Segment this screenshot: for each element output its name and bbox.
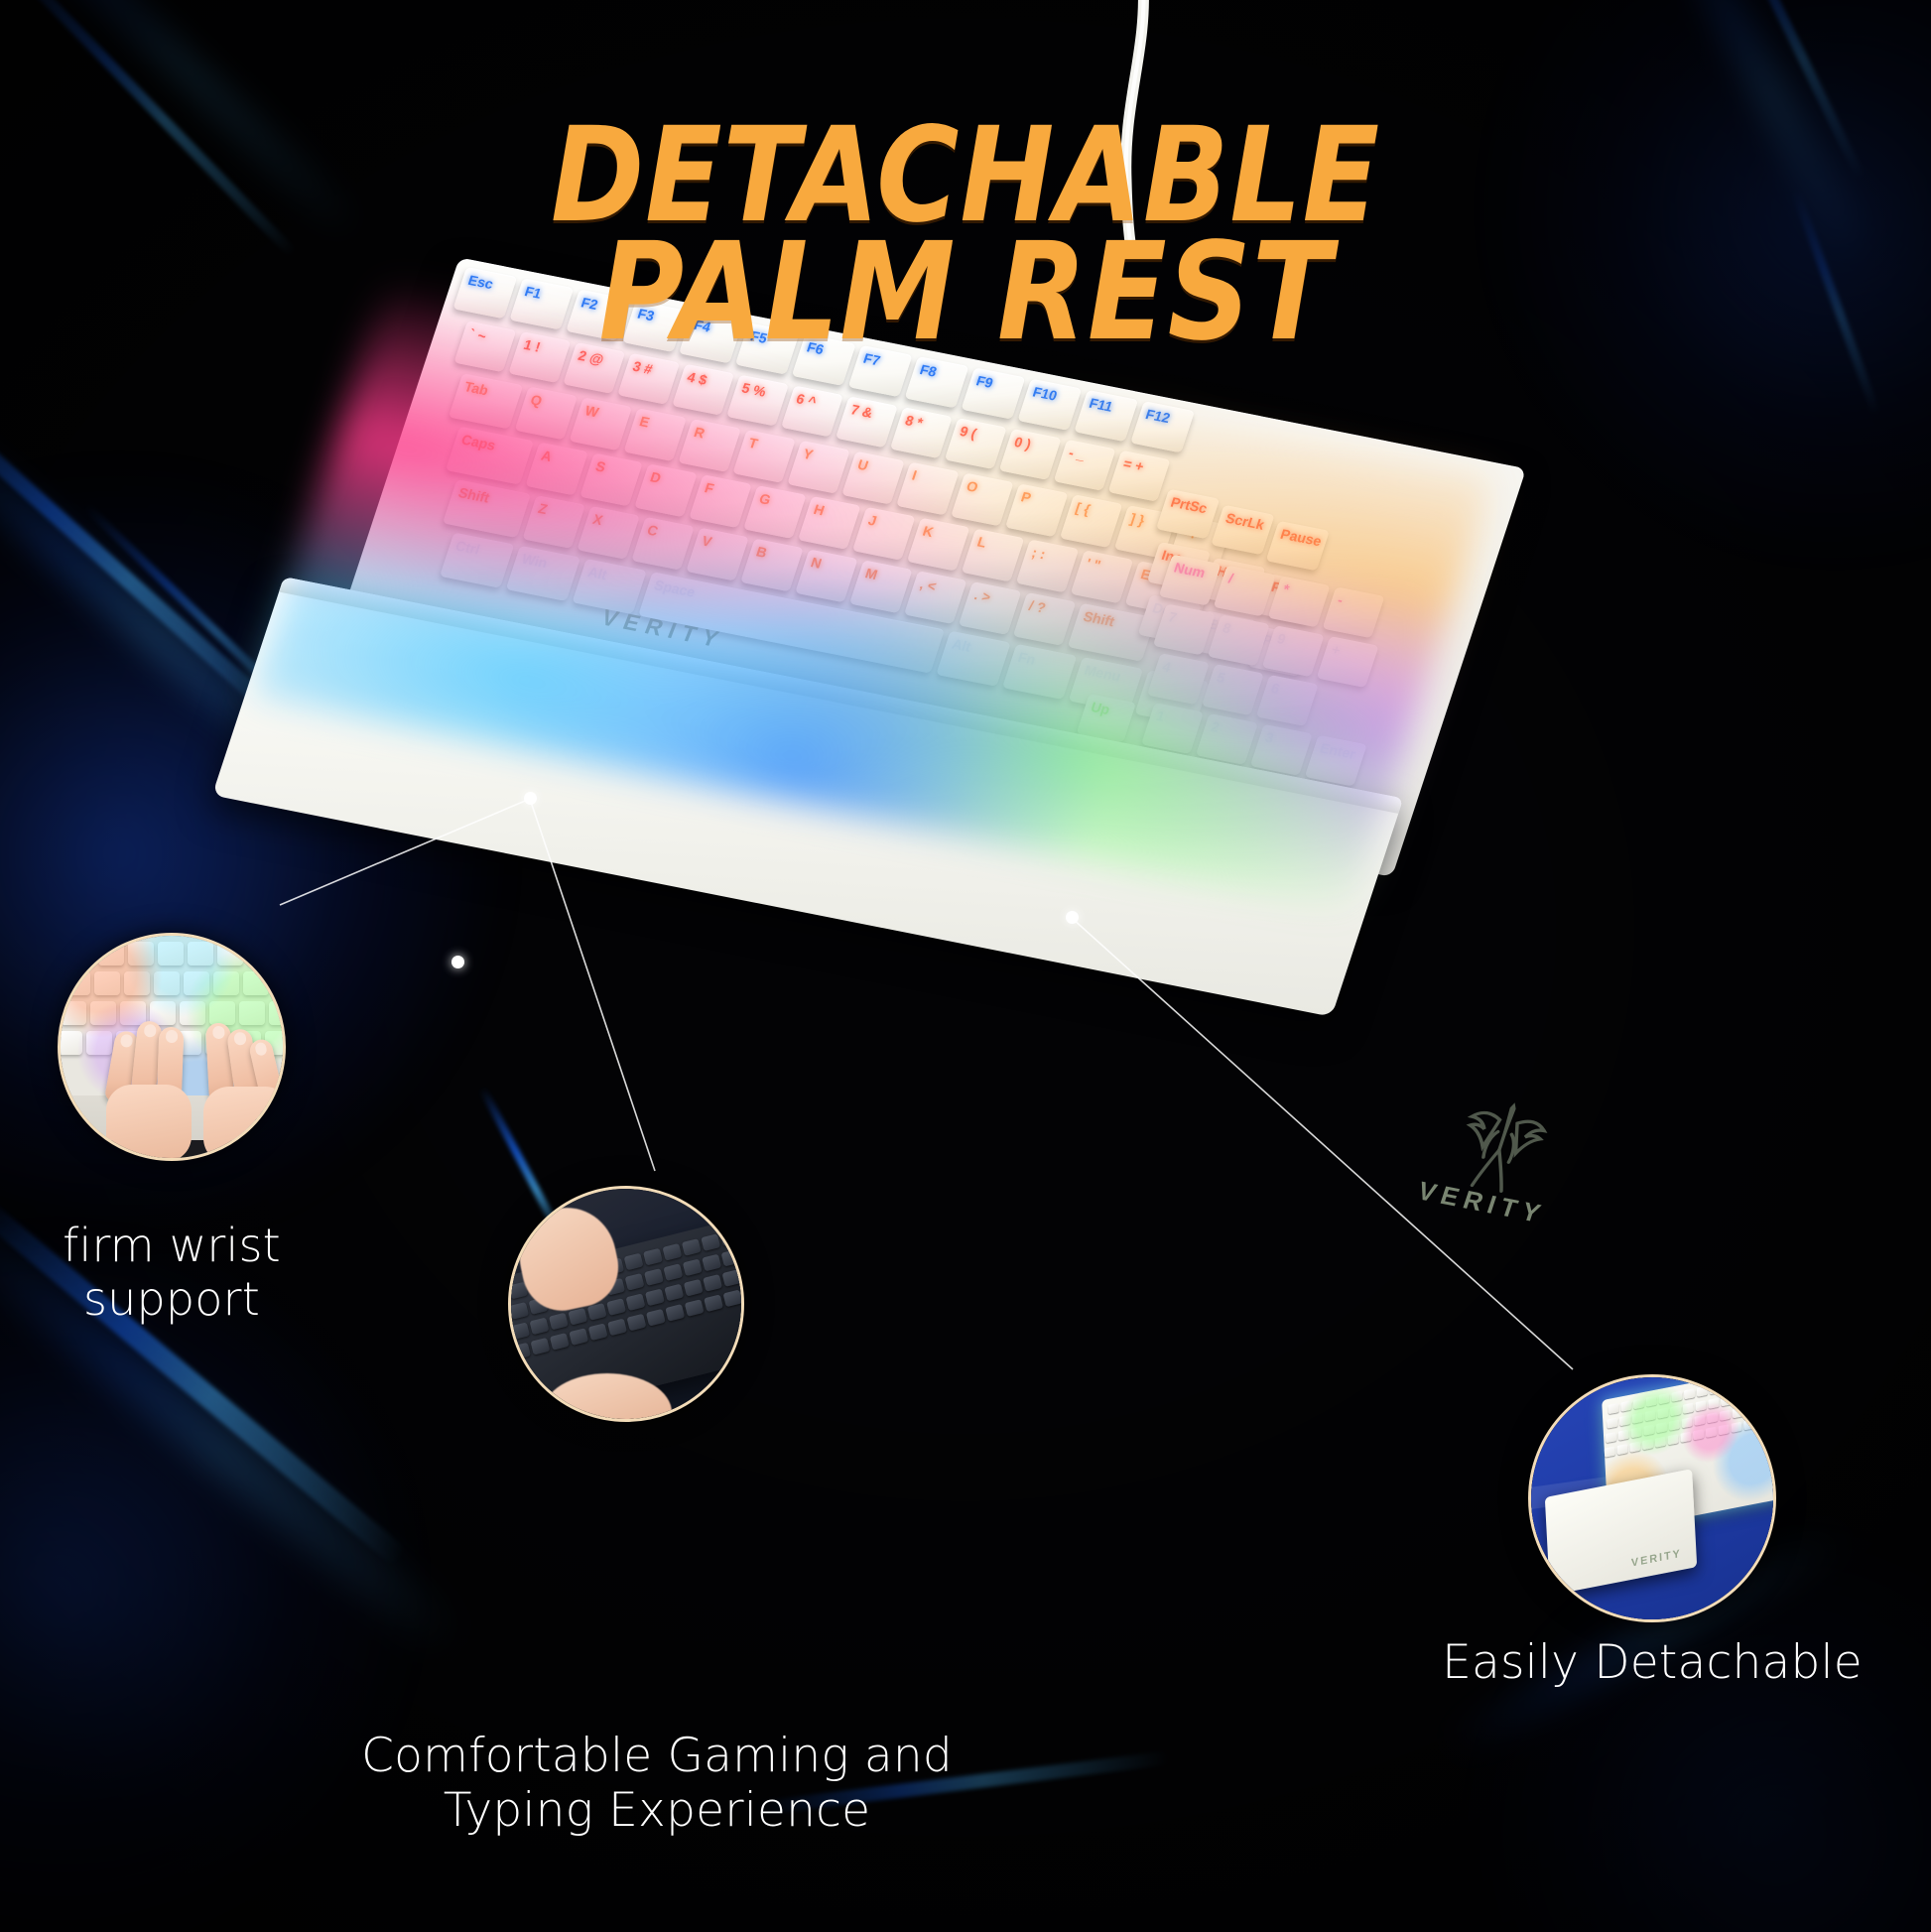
inset-palm <box>106 1085 192 1161</box>
inset-hands-on-white-keyboard <box>58 933 286 1161</box>
inset-detached-palmrest: VERITY <box>1528 1374 1776 1622</box>
verity-logo: VERITY <box>1399 1086 1594 1233</box>
caption-line-2: support <box>18 1272 325 1326</box>
keyboard-product-image: EscF1F2F3F4F5F6F7F8F9F10F11F12` ~1 !2 @3… <box>253 347 1722 1131</box>
callout-dot-wrist <box>524 792 537 805</box>
caption-comfortable-gaming: Comfortable Gaming and Typing Experience <box>349 1729 965 1839</box>
inset-palm <box>203 1087 286 1161</box>
callout-dot-typing <box>451 956 464 968</box>
caption-line-2: Typing Experience <box>349 1783 965 1838</box>
caption-easily-detachable: Easily Detachable <box>1389 1635 1915 1690</box>
inset-palmrest-wordmark: VERITY <box>1630 1548 1681 1570</box>
caption-firm-wrist-support: firm wrist support <box>18 1219 325 1327</box>
caption-line-1: firm wrist <box>18 1219 325 1272</box>
caption-line-1: Easily Detachable <box>1389 1635 1915 1690</box>
callout-dot-detach <box>1066 911 1079 924</box>
inset-hand-typing-dark-keyboard <box>508 1186 744 1422</box>
caption-line-1: Comfortable Gaming and <box>349 1729 965 1783</box>
